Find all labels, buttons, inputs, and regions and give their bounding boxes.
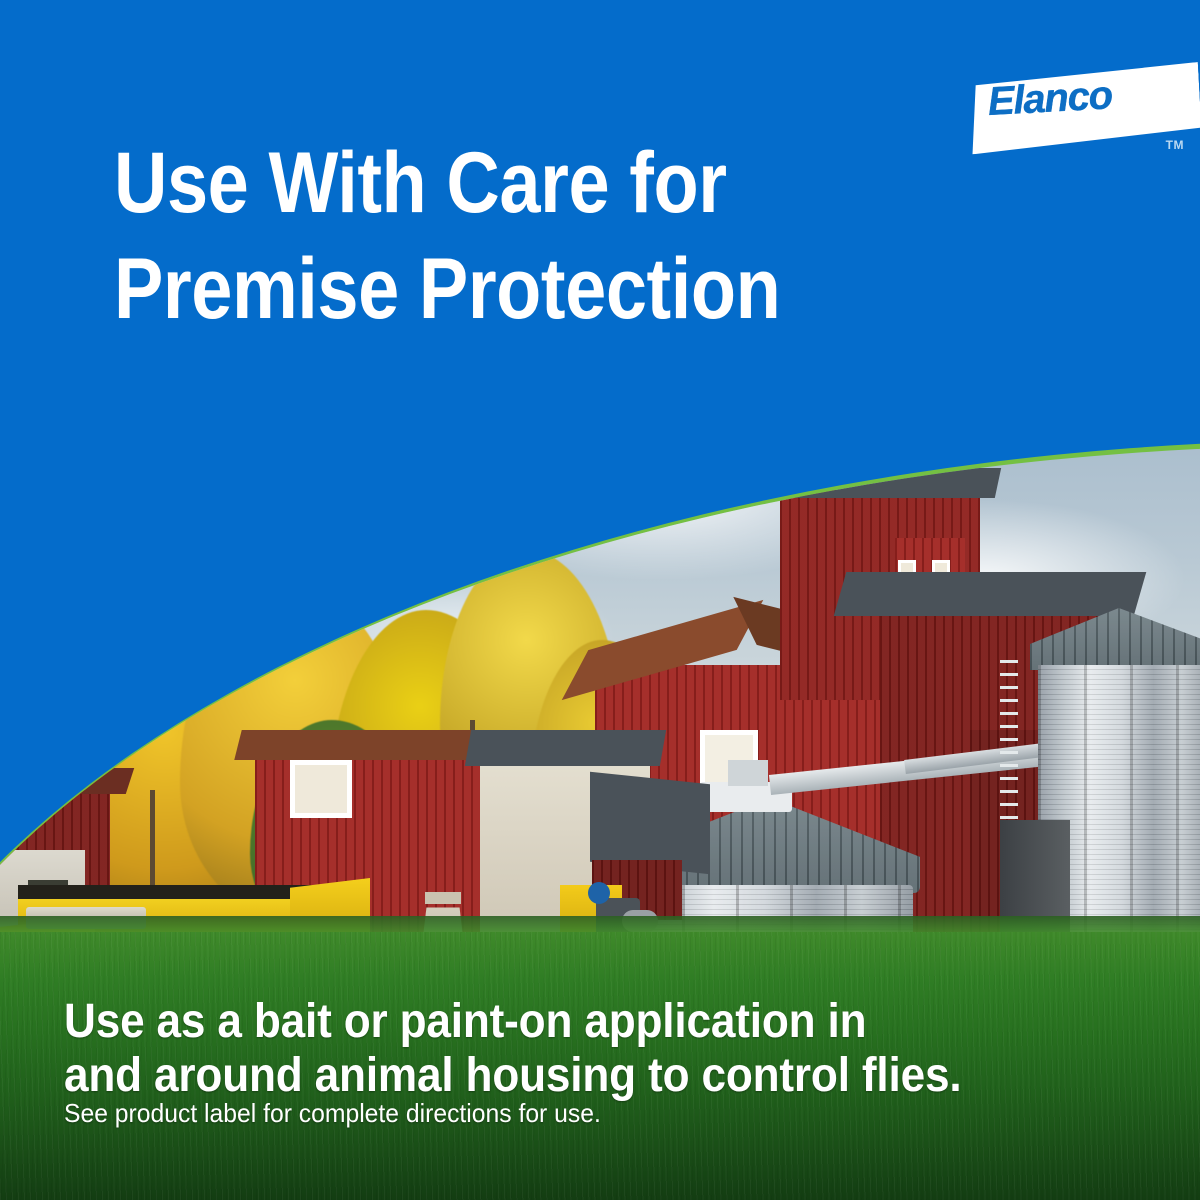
- subheadline: Use as a bait or paint-on application in…: [64, 995, 1085, 1103]
- logo-wordmark: Elanco: [987, 73, 1113, 125]
- promotional-poster: Elanco TM Use With Care for Premise Prot…: [0, 0, 1200, 1200]
- field-horizon: [0, 916, 1200, 932]
- trademark-symbol: TM: [1166, 138, 1184, 152]
- legal-disclaimer: See product label for complete direction…: [64, 1098, 601, 1129]
- page-title: Use With Care for Premise Protection: [114, 130, 888, 342]
- elanco-logo[interactable]: Elanco TM: [970, 62, 1200, 154]
